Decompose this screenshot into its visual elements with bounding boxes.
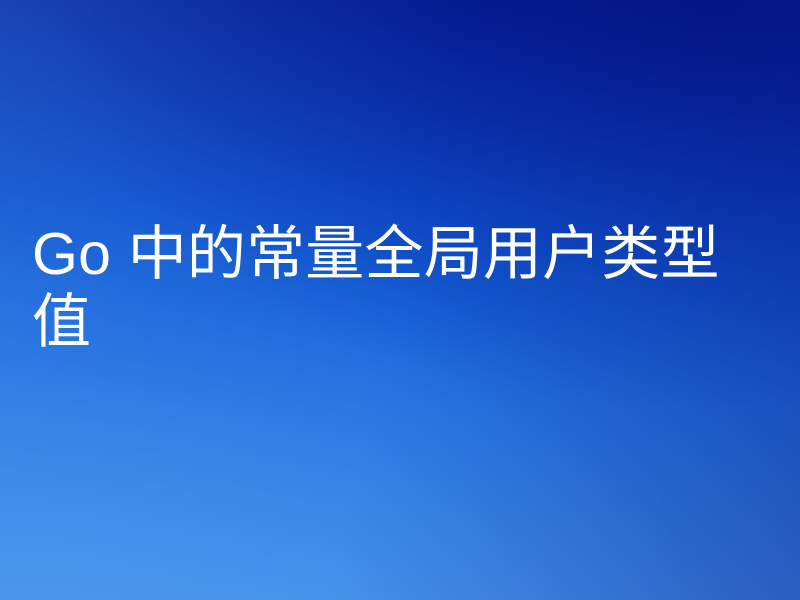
title-container: Go 中的常量全局用户类型值 (0, 0, 800, 600)
slide-title: Go 中的常量全局用户类型值 (0, 220, 800, 356)
slide-canvas: Go 中的常量全局用户类型值 (0, 0, 800, 600)
